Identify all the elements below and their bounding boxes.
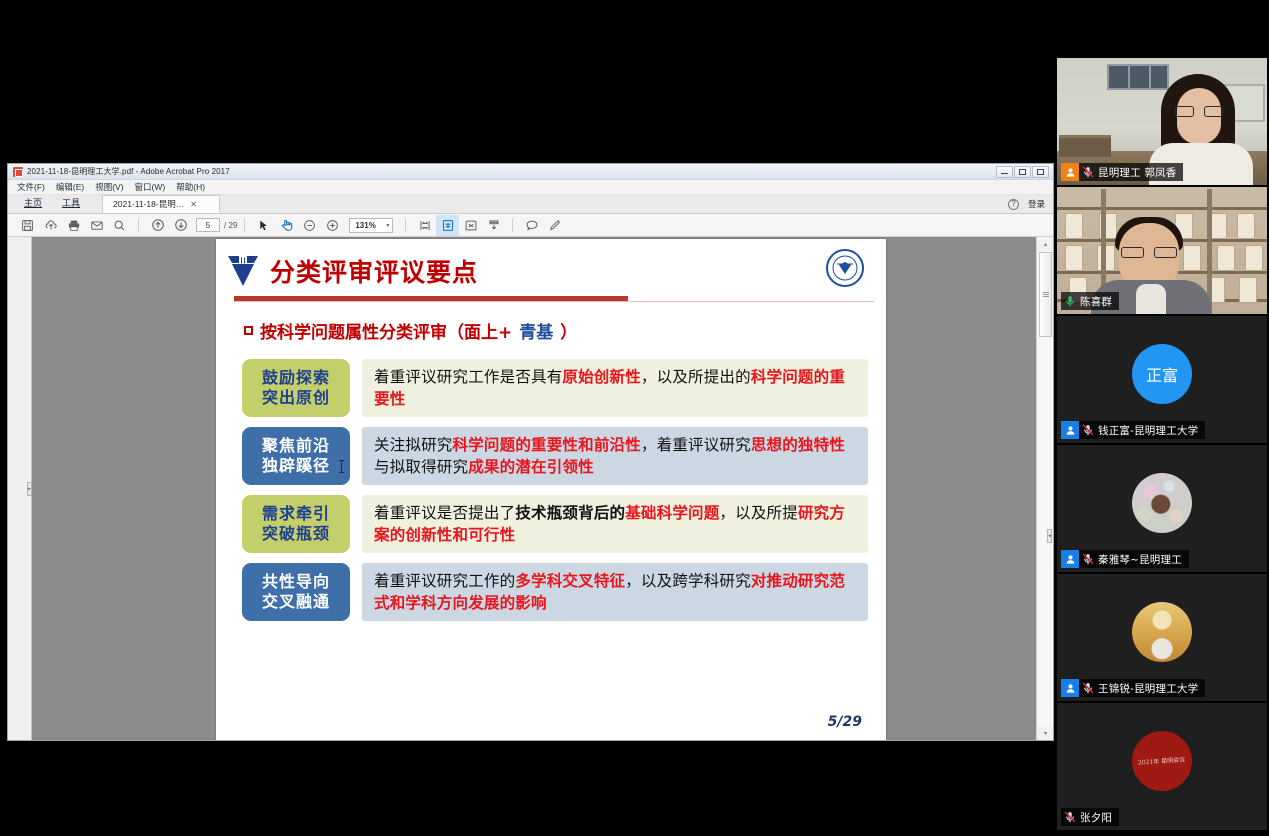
- avatar: [1132, 473, 1192, 533]
- slide-title: 分类评审评议要点: [270, 253, 478, 289]
- participant-nameplate: 王锦锐-昆明理工大学: [1061, 679, 1205, 697]
- microphone-muted-icon: [1079, 679, 1096, 697]
- row-tag: 需求牵引突破瓶颈: [242, 495, 350, 553]
- window-titlebar[interactable]: 2021-11-18-昆明理工大学.pdf - Adobe Acrobat Pr…: [8, 164, 1053, 180]
- chevron-down-icon: ▾: [386, 222, 389, 229]
- fit-width-icon[interactable]: [413, 215, 436, 236]
- row-body-segment: ，着重评议研究: [641, 436, 751, 454]
- microphone-muted-icon: [1079, 163, 1096, 181]
- university-seal-icon: [826, 249, 864, 287]
- microphone-muted-icon: [1079, 421, 1096, 439]
- page-total-label: / 29: [224, 221, 237, 230]
- participant-badge-icon: [1061, 421, 1079, 439]
- menu-help[interactable]: 帮助(H): [176, 181, 205, 193]
- row-body-segment: 与拟取得研究: [374, 458, 468, 476]
- participant-tile[interactable]: 陈喜群: [1057, 187, 1267, 314]
- row-body-segment: 关注拟研究: [374, 436, 453, 454]
- participant-nameplate: 昆明理工 郭凤香: [1061, 163, 1183, 181]
- search-icon[interactable]: [108, 215, 131, 236]
- participant-name: 王锦锐-昆明理工大学: [1096, 681, 1198, 696]
- slide-row: 聚焦前沿独辟蹊径关注拟研究科学问题的重要性和前沿性，着重评议研究思想的独特性与拟…: [242, 427, 868, 485]
- help-icon[interactable]: ?: [1008, 199, 1019, 210]
- row-body-segment: ，以及所提出的: [641, 368, 751, 386]
- participant-nameplate: 陈喜群: [1061, 292, 1119, 310]
- participant-name: 张夕阳: [1078, 810, 1112, 825]
- row-body-segment: 成果的潜在引领性: [468, 458, 594, 476]
- row-tag-line2: 独辟蹊径: [262, 456, 330, 476]
- bullet-text-after: ）: [560, 318, 577, 343]
- highlight-pen-icon[interactable]: [543, 215, 566, 236]
- page-number-input[interactable]: 5: [196, 218, 220, 232]
- print-icon[interactable]: [62, 215, 85, 236]
- zoom-in-icon[interactable]: [321, 215, 344, 236]
- slide-header: 分类评审评议要点: [216, 239, 886, 302]
- window-controls: [996, 166, 1049, 178]
- document-tab[interactable]: 2021-11-18-昆明… ✕: [102, 195, 220, 213]
- zoom-out-icon[interactable]: [298, 215, 321, 236]
- bullet-text-before: 按科学问题属性分类评审（面上+: [260, 318, 512, 343]
- menu-bar: 文件(F) 编辑(E) 视图(V) 窗口(W) 帮助(H): [8, 180, 1053, 195]
- row-tag: 鼓励探索突出原创: [242, 359, 350, 417]
- row-tag-line2: 突破瓶颈: [262, 524, 330, 544]
- row-tag-line1: 鼓励探索: [262, 368, 330, 388]
- bullet-square-icon: [244, 326, 253, 335]
- menu-edit[interactable]: 编辑(E): [56, 181, 84, 193]
- slide-content-rows: 鼓励探索突出原创着重评议研究工作是否具有原始创新性，以及所提出的科学问题的重要性…: [242, 359, 868, 621]
- avatar: [1132, 602, 1192, 662]
- participant-video-panel: 昆明理工 郭凤香 陈喜群 正富 钱正富-昆明理工大学 秦雅琴~昆明理工: [1055, 0, 1269, 836]
- row-body-segment: 原始创新性: [562, 368, 641, 386]
- title-divider-thin: [234, 301, 874, 302]
- participant-name: 钱正富-昆明理工大学: [1096, 423, 1198, 438]
- participant-nameplate: 秦雅琴~昆明理工: [1061, 550, 1189, 568]
- pdf-slide-page: 分类评审评议要点: [216, 239, 886, 740]
- row-tag: 聚焦前沿独辟蹊径: [242, 427, 350, 485]
- acrobat-app-icon: [13, 167, 23, 177]
- tab-home[interactable]: 主页: [14, 193, 52, 213]
- microphone-icon: [1061, 292, 1078, 310]
- document-tab-label: 2021-11-18-昆明…: [113, 198, 184, 210]
- row-body-segment: 基础科学问题: [625, 504, 719, 522]
- participant-tile[interactable]: 2021年 昆明会议 张夕阳: [1057, 703, 1267, 830]
- pdf-page-canvas[interactable]: 分类评审评议要点: [32, 237, 1036, 740]
- scroll-down-icon[interactable]: [482, 215, 505, 236]
- menu-view[interactable]: 视图(V): [95, 181, 123, 193]
- select-tool-icon[interactable]: [252, 215, 275, 236]
- slide-bullet-line: 按科学问题属性分类评审（面上+青基）: [244, 318, 886, 343]
- save-icon[interactable]: [16, 215, 39, 236]
- screen-root: 2021-11-18-昆明理工大学.pdf - Adobe Acrobat Pr…: [0, 0, 1269, 836]
- nsfc-logo-icon: [226, 253, 260, 289]
- tab-strip: 主页 工具 2021-11-18-昆明… ✕ ? 登录: [8, 195, 1053, 214]
- row-body-segment: ，以及所提: [719, 504, 798, 522]
- row-body-segment: 思想的独特性: [751, 436, 845, 454]
- pdf-viewing-area: ▸ 分: [8, 237, 1053, 740]
- microphone-muted-icon: [1079, 550, 1096, 568]
- acrobat-toolbar: 5 / 29: [8, 214, 1053, 237]
- participant-nameplate: 张夕阳: [1061, 808, 1119, 826]
- row-body-segment: 着重评议研究工作是否具有: [374, 368, 562, 386]
- fit-page-icon[interactable]: [436, 215, 459, 236]
- row-body-segment: 着重评议是否提出了: [374, 504, 515, 522]
- row-body-segment: 科学问题的重要性和前沿性: [453, 436, 641, 454]
- scroll-down-arrow-icon[interactable]: ▾: [1037, 726, 1053, 740]
- row-tag: 共性导向交叉融通: [242, 563, 350, 621]
- participant-tile[interactable]: 秦雅琴~昆明理工: [1057, 445, 1267, 572]
- row-tag-line1: 共性导向: [262, 572, 330, 592]
- row-tag-line1: 聚焦前沿: [262, 436, 330, 456]
- email-icon[interactable]: [85, 215, 108, 236]
- close-icon[interactable]: ✕: [190, 200, 197, 209]
- row-tag-line2: 交叉融通: [262, 592, 330, 612]
- hand-tool-icon[interactable]: [275, 215, 298, 236]
- participant-badge-icon: [1061, 679, 1079, 697]
- pdf-vertical-scrollbar[interactable]: ▴ ◂ ▾: [1036, 237, 1053, 740]
- row-body-text: 着重评议研究工作的多学科交叉特征，以及跨学科研究对推动研究范式和学科方向发展的影…: [362, 563, 868, 621]
- participant-tile[interactable]: 王锦锐-昆明理工大学: [1057, 574, 1267, 701]
- participant-badge-icon: [1061, 550, 1079, 568]
- scroll-up-arrow-icon[interactable]: ▴: [1037, 237, 1053, 251]
- sign-in-button[interactable]: 登录: [1028, 198, 1045, 210]
- tab-tools[interactable]: 工具: [52, 193, 90, 213]
- avatar: 正富: [1132, 344, 1192, 404]
- maximize-button[interactable]: [1014, 166, 1031, 178]
- upload-cloud-icon[interactable]: [39, 215, 62, 236]
- menu-window[interactable]: 窗口(W): [135, 181, 166, 193]
- participant-name: 陈喜群: [1078, 294, 1112, 309]
- participant-tile[interactable]: 昆明理工 郭凤香: [1057, 58, 1267, 185]
- participant-nameplate: 钱正富-昆明理工大学: [1061, 421, 1205, 439]
- scrollbar-grip-icon: [1043, 292, 1049, 298]
- menu-file[interactable]: 文件(F): [17, 181, 45, 193]
- avatar: 2021年 昆明会议: [1132, 731, 1192, 791]
- zoom-level-value: 131%: [355, 221, 375, 230]
- participant-name: 秦雅琴~昆明理工: [1096, 552, 1182, 567]
- row-body-segment: ，以及跨学科研究: [625, 572, 751, 590]
- text-cursor: [341, 460, 342, 473]
- page-down-icon[interactable]: [169, 215, 192, 236]
- bullet-text-highlight: 青基: [519, 318, 553, 343]
- row-body-segment: 技术瓶颈背后的: [515, 504, 625, 522]
- row-body-text: 关注拟研究科学问题的重要性和前沿性，着重评议研究思想的独特性与拟取得研究成果的潜…: [362, 427, 868, 485]
- comment-icon[interactable]: [520, 215, 543, 236]
- full-screen-icon[interactable]: [459, 215, 482, 236]
- microphone-muted-icon: [1061, 808, 1078, 826]
- participant-badge-icon: [1061, 163, 1079, 181]
- slide-page-number: 5/29: [828, 714, 862, 730]
- close-button[interactable]: [1032, 166, 1049, 178]
- shared-screen-area: 2021-11-18-昆明理工大学.pdf - Adobe Acrobat Pr…: [0, 0, 1055, 836]
- row-body-segment: 着重评议研究工作的: [374, 572, 515, 590]
- window-title: 2021-11-18-昆明理工大学.pdf - Adobe Acrobat Pr…: [27, 166, 230, 177]
- acrobat-window: 2021-11-18-昆明理工大学.pdf - Adobe Acrobat Pr…: [7, 163, 1054, 741]
- row-body-text: 着重评议研究工作是否具有原始创新性，以及所提出的科学问题的重要性: [362, 359, 868, 417]
- row-body-text: 着重评议是否提出了技术瓶颈背后的基础科学问题，以及所提研究方案的创新性和可行性: [362, 495, 868, 553]
- right-panel-expand-handle[interactable]: ◂: [1047, 529, 1052, 543]
- page-up-icon[interactable]: [146, 215, 169, 236]
- row-body-segment: 多学科交叉特征: [515, 572, 625, 590]
- zoom-level-select[interactable]: 131% ▾: [349, 218, 393, 233]
- slide-row: 需求牵引突破瓶颈着重评议是否提出了技术瓶颈背后的基础科学问题，以及所提研究方案的…: [242, 495, 868, 553]
- navigation-side-panel[interactable]: ▸: [8, 237, 32, 740]
- row-tag-line2: 突出原创: [262, 388, 330, 408]
- row-tag-line1: 需求牵引: [262, 504, 330, 524]
- participant-tile[interactable]: 正富 钱正富-昆明理工大学: [1057, 316, 1267, 443]
- participant-name: 昆明理工 郭凤香: [1096, 165, 1176, 180]
- scrollbar-thumb[interactable]: [1039, 252, 1052, 337]
- slide-row: 鼓励探索突出原创着重评议研究工作是否具有原始创新性，以及所提出的科学问题的重要性: [242, 359, 868, 417]
- minimize-button[interactable]: [996, 166, 1013, 178]
- slide-row: 共性导向交叉融通着重评议研究工作的多学科交叉特征，以及跨学科研究对推动研究范式和…: [242, 563, 868, 621]
